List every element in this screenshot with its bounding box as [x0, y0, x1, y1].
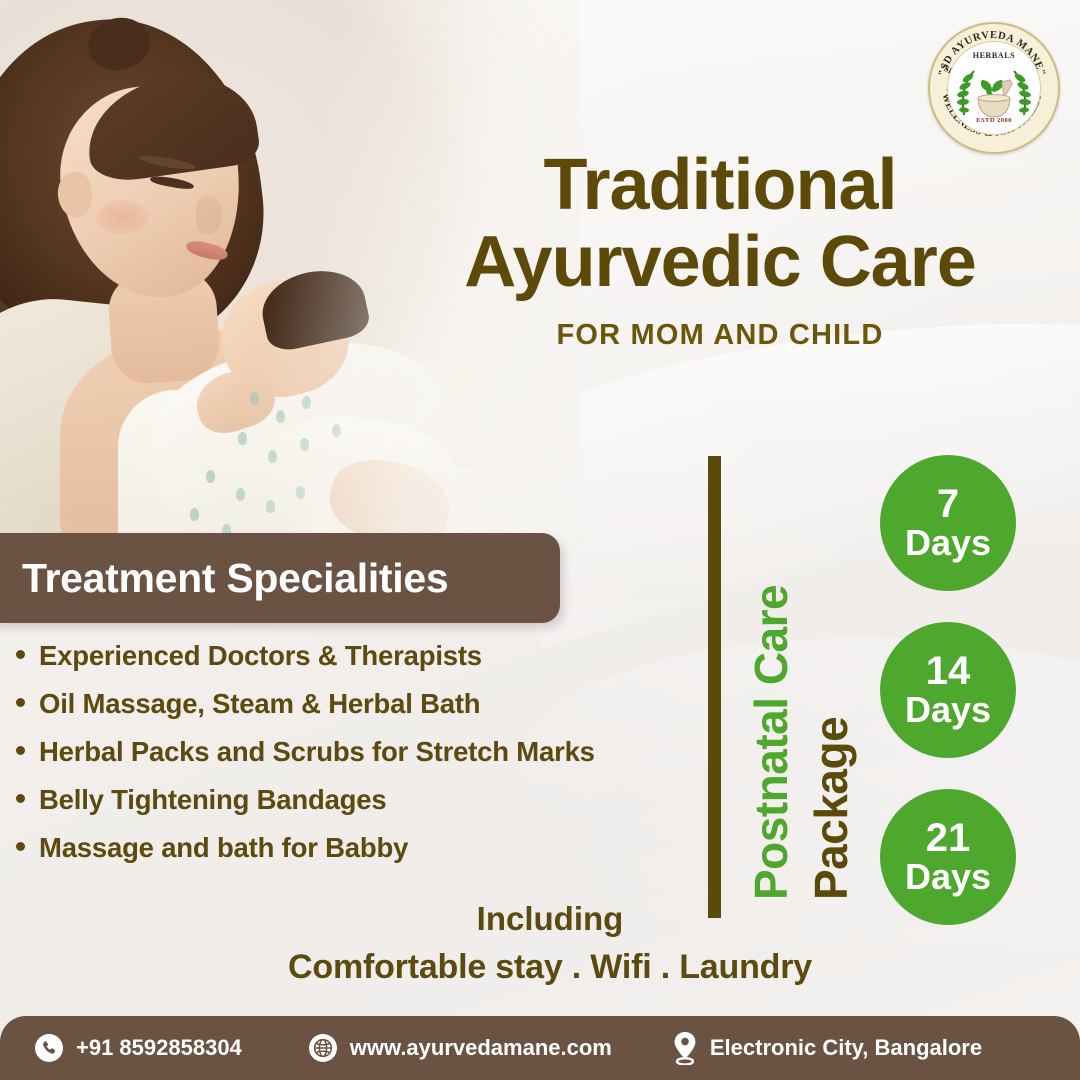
- duration-circle-7-days: 7 Days: [880, 455, 1016, 591]
- list-item: Oil Massage, Steam & Herbal Bath: [16, 688, 716, 720]
- including-block: Including Comfortable stay . Wifi . Laun…: [230, 900, 870, 987]
- bullet-dot-icon: [16, 650, 25, 659]
- duration-circle-21-days: 21 Days: [880, 789, 1016, 925]
- duration-circle-14-days: 14 Days: [880, 622, 1016, 758]
- bullet-dot-icon: [16, 746, 25, 755]
- list-item-label: Herbal Packs and Scrubs for Stretch Mark…: [39, 736, 595, 768]
- package-label-line-2: Package: [804, 717, 858, 900]
- list-item: Herbal Packs and Scrubs for Stretch Mark…: [16, 736, 716, 768]
- duration-unit: Days: [905, 525, 991, 562]
- logo-inner-disc: HERBALS: [947, 41, 1041, 135]
- footer-website[interactable]: www.ayurvedamane.com: [308, 1033, 612, 1063]
- bullet-dot-icon: [16, 794, 25, 803]
- list-item-label: Experienced Doctors & Therapists: [39, 640, 482, 672]
- including-details: Comfortable stay . Wifi . Laundry: [230, 948, 870, 987]
- footer-location[interactable]: Electronic City, Bangalore: [672, 1031, 982, 1065]
- footer-phone[interactable]: +91 8592858304: [34, 1033, 242, 1063]
- headline-subtitle: FOR MOM AND CHILD: [400, 319, 1040, 352]
- logo-estd-text: ESTD 2000: [948, 117, 1040, 124]
- footer-phone-label: +91 8592858304: [76, 1035, 242, 1061]
- footer-website-label: www.ayurvedamane.com: [350, 1035, 612, 1061]
- including-title: Including: [230, 900, 870, 938]
- company-logo: "SD AYURVEDA MANE" "SD AYURVEDA MANE" "W…: [928, 22, 1060, 154]
- duration-number: 7: [937, 484, 959, 525]
- headline-block: Traditional Ayurvedic Care FOR MOM AND C…: [400, 150, 1040, 352]
- poster: "SD AYURVEDA MANE" "SD AYURVEDA MANE" "W…: [0, 0, 1080, 1080]
- mortar-and-pestle-icon: [970, 78, 1018, 120]
- logo-herbals-text: HERBALS: [948, 51, 1040, 60]
- list-item: Belly Tightening Bandages: [16, 784, 716, 816]
- list-item-label: Massage and bath for Babby: [39, 832, 408, 864]
- list-item-label: Oil Massage, Steam & Herbal Bath: [39, 688, 480, 720]
- bullet-dot-icon: [16, 842, 25, 851]
- duration-number: 14: [926, 651, 971, 692]
- package-label-line-1: Postnatal Care: [744, 585, 798, 900]
- bullet-dot-icon: [16, 698, 25, 707]
- headline-line-1: Traditional: [400, 150, 1040, 221]
- list-item: Experienced Doctors & Therapists: [16, 640, 716, 672]
- footer-location-label: Electronic City, Bangalore: [710, 1035, 982, 1061]
- treatment-specialities-heading: Treatment Specialities: [0, 555, 448, 602]
- treatment-specialities-banner: Treatment Specialities: [0, 533, 560, 623]
- duration-unit: Days: [905, 692, 991, 729]
- specialities-list: Experienced Doctors & Therapists Oil Mas…: [16, 640, 716, 880]
- location-pin-icon: [672, 1031, 698, 1065]
- contact-footer: +91 8592858304 www.ayurvedamane.com: [0, 1016, 1080, 1080]
- duration-number: 21: [926, 818, 971, 859]
- phone-icon: [34, 1033, 64, 1063]
- list-item: Massage and bath for Babby: [16, 832, 716, 864]
- globe-icon: [308, 1033, 338, 1063]
- package-label-block: Postnatal Care Package: [700, 440, 860, 920]
- duration-unit: Days: [905, 859, 991, 896]
- list-item-label: Belly Tightening Bandages: [39, 784, 386, 816]
- headline-line-2: Ayurvedic Care: [400, 227, 1040, 298]
